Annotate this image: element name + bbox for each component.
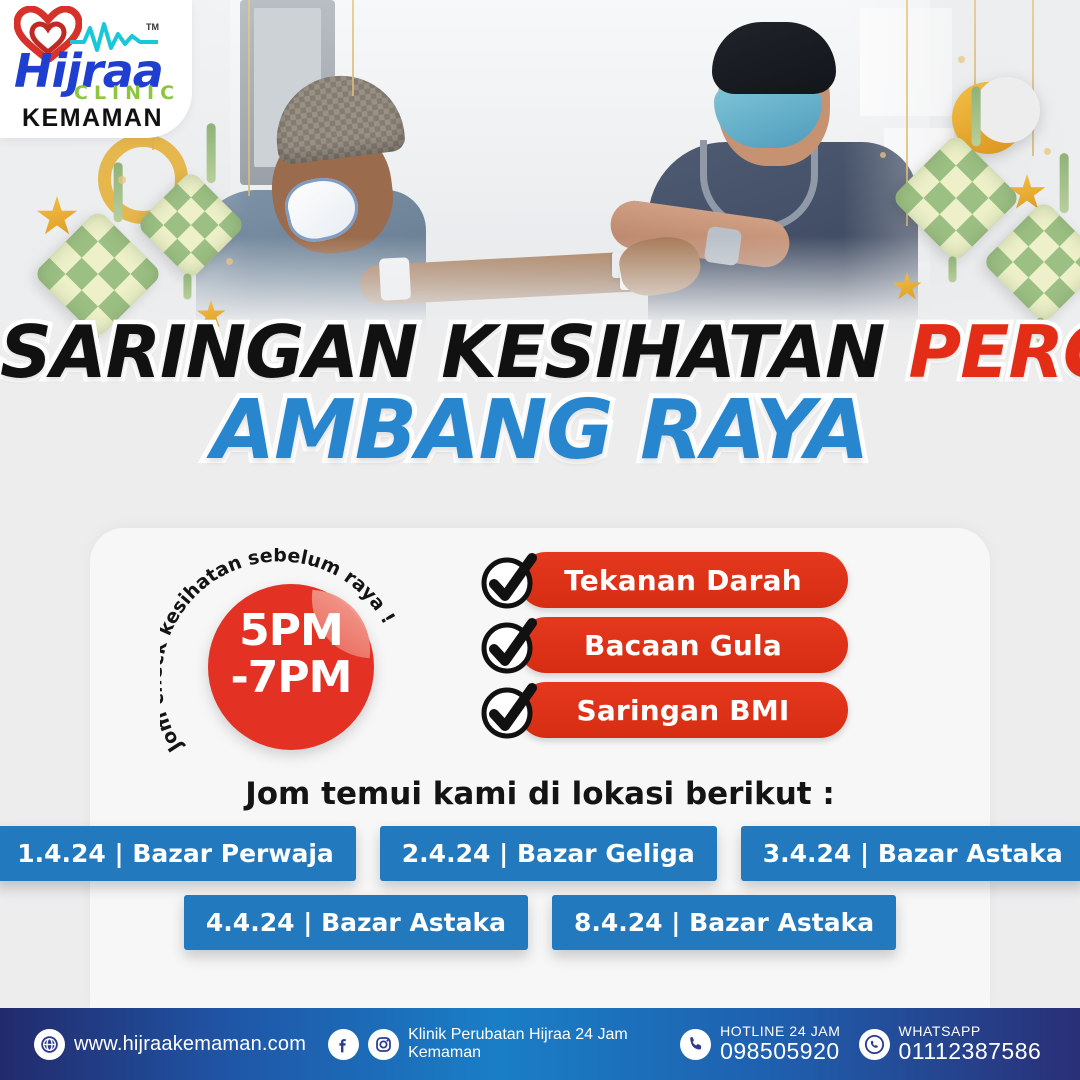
website-contact[interactable]: www.hijraakemaman.com: [34, 1029, 306, 1060]
website-url: www.hijraakemaman.com: [74, 1033, 306, 1056]
headline-block: SARINGAN KESIHATAN PERCUMA AMBANG RAYA: [0, 318, 1080, 470]
hotline-contact[interactable]: HOTLINE 24 JAM 098505920: [680, 1024, 840, 1065]
location-place: Bazar Perwaja: [132, 839, 333, 868]
location-chip[interactable]: 4.4.24 | Bazar Astaka: [184, 895, 528, 950]
service-label: Saringan BMI: [576, 694, 789, 727]
location-separator: |: [860, 839, 869, 868]
sparkle-dot: [958, 56, 965, 63]
service-pill[interactable]: Saringan BMI: [518, 682, 848, 738]
hanging-string: [248, 0, 250, 196]
location-date: 8.4.24: [574, 908, 663, 937]
location-chip[interactable]: 1.4.24 | Bazar Perwaja: [0, 826, 356, 881]
service-pill[interactable]: Bacaan Gula: [518, 617, 848, 673]
instagram-icon[interactable]: [368, 1029, 399, 1060]
check-circle-icon: [478, 615, 540, 677]
location-place: Bazar Astaka: [689, 908, 874, 937]
badge-time-text: 5PM -7PM: [208, 608, 374, 701]
badge-time-end: -7PM: [208, 655, 374, 702]
service-item[interactable]: Tekanan Darah: [478, 552, 858, 610]
location-separator: |: [303, 908, 312, 937]
hanging-string: [1032, 0, 1034, 156]
location-date: 2.4.24: [402, 839, 491, 868]
headline-subtitle-text: AMBANG RAYA: [212, 383, 869, 478]
hotline-number: 098505920: [720, 1039, 840, 1064]
service-item[interactable]: Bacaan Gula: [478, 617, 858, 675]
locations-row-2: 4.4.24 | Bazar Astaka 8.4.24 | Bazar Ast…: [90, 895, 990, 950]
locations-list: 1.4.24 | Bazar Perwaja 2.4.24 | Bazar Ge…: [90, 826, 990, 964]
location-separator: |: [671, 908, 680, 937]
location-chip[interactable]: 8.4.24 | Bazar Astaka: [552, 895, 896, 950]
location-place: Bazar Astaka: [878, 839, 1063, 868]
social-handle: Klinik Perubatan Hijraa 24 Jam Kemaman: [408, 1026, 658, 1063]
sparkle-dot: [226, 258, 233, 265]
poster-canvas: TM Hijraa CLINIC KEMAMAN SARINGAN KESIHA…: [0, 0, 1080, 1080]
locations-row-1: 1.4.24 | Bazar Perwaja 2.4.24 | Bazar Ge…: [90, 826, 990, 881]
sparkle-dot: [1044, 148, 1051, 155]
badge-time-start: 5PM: [208, 608, 374, 655]
location-place: Bazar Astaka: [321, 908, 506, 937]
location-separator: |: [499, 839, 508, 868]
services-list: Tekanan Darah Bacaan Gula Saringan BMI: [478, 552, 858, 747]
location-chip[interactable]: 3.4.24 | Bazar Astaka: [741, 826, 1080, 881]
whatsapp-label: WHATSAPP: [899, 1024, 1042, 1039]
facebook-icon[interactable]: [328, 1029, 359, 1060]
service-label: Tekanan Darah: [564, 564, 802, 597]
logo-clinic-text: CLINIC: [74, 82, 180, 104]
hanging-string: [974, 0, 976, 96]
hanging-string: [352, 0, 354, 96]
whatsapp-icon: [859, 1029, 890, 1060]
headline-line-2: AMBANG RAYA: [0, 392, 1080, 470]
time-badge: Jom check kesihatan sebelum raya ! 5PM -…: [160, 548, 450, 780]
service-pill[interactable]: Tekanan Darah: [518, 552, 848, 608]
sparkle-dot: [880, 152, 886, 158]
clinic-logo: TM Hijraa CLINIC KEMAMAN: [0, 0, 192, 138]
service-item[interactable]: Saringan BMI: [478, 682, 858, 740]
footer-bar: www.hijraakemaman.com Klinik Perubatan H…: [0, 1008, 1080, 1080]
location-date: 1.4.24: [17, 839, 106, 868]
headline-line-1: SARINGAN KESIHATAN PERCUMA: [0, 318, 1080, 386]
location-date: 4.4.24: [206, 908, 295, 937]
location-place: Bazar Geliga: [517, 839, 695, 868]
headline-highlight-text: PERCUMA: [909, 310, 1080, 394]
globe-icon: [34, 1029, 65, 1060]
locations-title: Jom temui kami di lokasi berikut :: [0, 776, 1080, 812]
location-separator: |: [115, 839, 124, 868]
location-chip[interactable]: 2.4.24 | Bazar Geliga: [380, 826, 717, 881]
service-label: Bacaan Gula: [584, 629, 782, 662]
phone-icon: [680, 1029, 711, 1060]
whatsapp-number: 01112387586: [899, 1039, 1042, 1064]
location-date: 3.4.24: [763, 839, 852, 868]
sparkle-dot: [118, 176, 126, 184]
logo-branch-text: KEMAMAN: [22, 104, 163, 133]
trademark-mark: TM: [146, 22, 159, 32]
check-circle-icon: [478, 550, 540, 612]
hotline-label: HOTLINE 24 JAM: [720, 1024, 840, 1039]
whatsapp-contact[interactable]: WHATSAPP 01112387586: [859, 1024, 1042, 1065]
headline-main-text: SARINGAN KESIHATAN: [0, 310, 884, 394]
check-circle-icon: [478, 680, 540, 742]
social-contact[interactable]: Klinik Perubatan Hijraa 24 Jam Kemaman: [328, 1026, 658, 1063]
